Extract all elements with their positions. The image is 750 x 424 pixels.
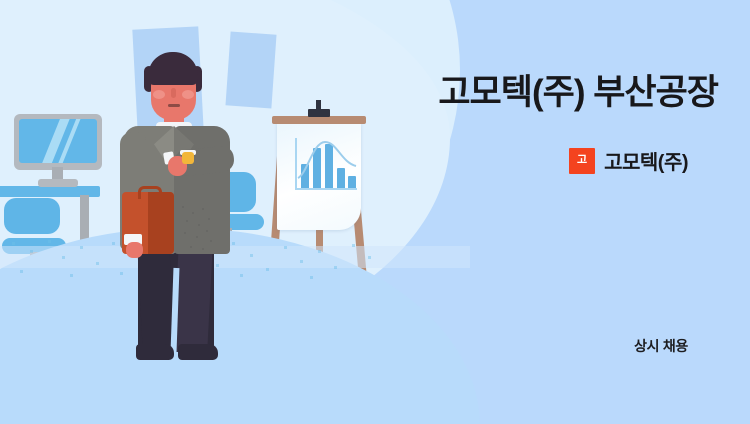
briefcase-handle-icon: [138, 186, 162, 199]
monitor-base-icon: [38, 179, 78, 187]
cheek-icon: [182, 90, 194, 99]
briefcase-side-icon: [148, 192, 174, 254]
bar-chart-icon: [295, 138, 357, 198]
recruit-status-badge: 상시 채용: [634, 336, 688, 356]
shoe-icon: [136, 344, 174, 360]
illustration-scene: [0, 0, 470, 424]
company-row[interactable]: 고 고모텍(주): [569, 146, 688, 175]
page-title: 고모텍(주) 부산공장: [318, 72, 718, 114]
easel-tray-icon: [272, 116, 366, 124]
businessman-illustration: [118, 52, 248, 362]
wristwatch-icon: [182, 152, 194, 164]
hand-icon: [126, 242, 143, 258]
nose-icon: [171, 88, 176, 98]
monitor-screen-icon: [19, 119, 97, 163]
leg-icon: [173, 244, 213, 352]
cheek-icon: [153, 90, 165, 99]
shoe-icon: [178, 344, 218, 360]
company-name: 고모텍(주): [604, 146, 688, 175]
jacket-texture: [178, 202, 218, 256]
hair-icon: [148, 52, 198, 85]
leg-icon: [137, 244, 175, 352]
company-logo-icon: 고: [569, 148, 595, 174]
job-posting-banner: 고모텍(주) 부산공장 고 고모텍(주) 상시 채용: [0, 0, 750, 424]
mouth-icon: [168, 104, 180, 107]
